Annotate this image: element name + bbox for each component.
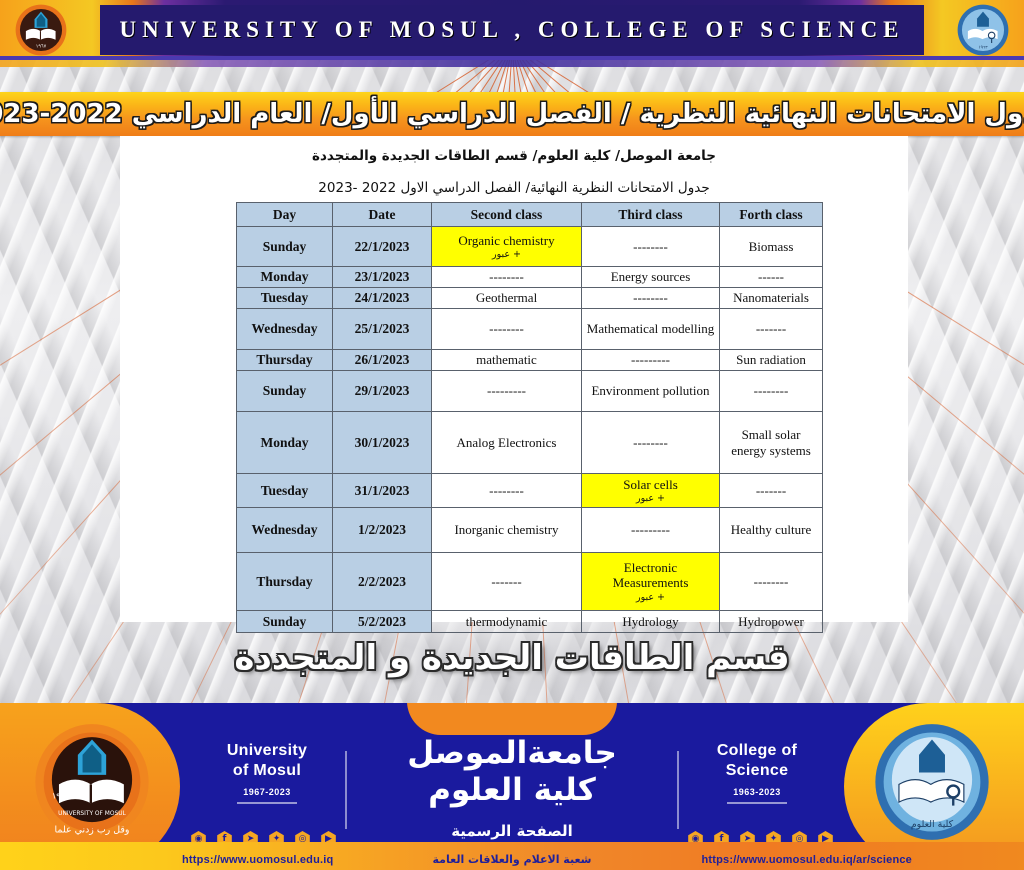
cell-second-class: --------: [432, 474, 582, 508]
footer-college-line1: College of: [672, 741, 842, 761]
cell-second-class: --------: [432, 309, 582, 350]
cell-day: Sunday: [237, 227, 333, 267]
footer-university-line1: University: [182, 741, 352, 761]
cell-date: 2/2/2023: [333, 553, 432, 611]
footer-college-text-block: College of Science 1963-2023: [672, 741, 842, 804]
department-title: قسم الطاقات الجديدة و المتجددة: [234, 638, 789, 678]
cell-date: 26/1/2023: [333, 350, 432, 371]
exam-schedule-title: جدول الامتحانات النهائية النظرية / الفصل…: [0, 99, 1024, 129]
cell-second-class: Analog Electronics: [432, 412, 582, 474]
cell-third-class: Mathematical modelling: [582, 309, 720, 350]
cell-third-class: --------: [582, 412, 720, 474]
sheet-subtitle-schedule: جدول الامتحانات النظرية النهائية/ الفصل …: [120, 180, 908, 196]
table-row: Tuesday24/1/2023Geothermal--------Nanoma…: [237, 288, 823, 309]
footer-notch-shape: [407, 703, 617, 735]
svg-text:١٩٦٧: ١٩٦٧: [52, 791, 70, 801]
cell-forth-class: -------: [720, 309, 823, 350]
cell-second-class: Inorganic chemistry: [432, 508, 582, 553]
footer-university-line2: of Mosul: [182, 761, 352, 781]
cell-day: Sunday: [237, 371, 333, 412]
cell-third-class: ---------: [582, 508, 720, 553]
footer-right-rule: [727, 802, 787, 804]
cell-date: 30/1/2023: [333, 412, 432, 474]
table-row: Wednesday25/1/2023--------Mathematical m…: [237, 309, 823, 350]
university-header-title: UNIVERSITY OF MOSUL , COLLEGE OF SCIENCE: [119, 17, 904, 43]
footer-center-text-block: جامعةالموصل كلية العلوم الصفحة الرسمية: [347, 735, 677, 840]
svg-text:UNIVERSITY OF MOSUL: UNIVERSITY OF MOSUL: [58, 811, 126, 817]
cell-second-class: --------: [432, 267, 582, 288]
column-header-second-class: Second class: [432, 203, 582, 227]
cell-day: Tuesday: [237, 474, 333, 508]
footer-university-years: 1967-2023: [182, 787, 352, 797]
footer-url-strip: https://www.uomosul.edu.iq شعبة الاعلام …: [0, 842, 1024, 870]
svg-text:١٩٦٧: ١٩٦٧: [36, 43, 47, 49]
cell-forth-class: Nanomaterials: [720, 288, 823, 309]
cell-forth-class: -------: [720, 474, 823, 508]
cell-third-class: Energy sources: [582, 267, 720, 288]
department-title-block: قسم الطاقات الجديدة و المتجددة: [0, 630, 1024, 686]
footer-divider-right: [677, 751, 679, 829]
cell-day: Thursday: [237, 553, 333, 611]
cell-third-class: ---------: [582, 350, 720, 371]
top-header-inner: UNIVERSITY OF MOSUL , COLLEGE OF SCIENCE: [100, 5, 924, 55]
cell-day: Wednesday: [237, 309, 333, 350]
footer-university-logo-icon: ١٩٦٧ UNIVERSITY OF MOSUL وقل رب زدني علم…: [33, 721, 151, 843]
cell-date: 31/1/2023: [333, 474, 432, 508]
poster-page: UNIVERSITY OF MOSUL , COLLEGE OF SCIENCE…: [0, 0, 1024, 870]
exam-note-arabic: + عبور: [585, 493, 716, 504]
university-of-mosul-logo-icon: ١٩٦٧: [12, 3, 70, 57]
table-row: Wednesday1/2/2023Inorganic chemistry----…: [237, 508, 823, 553]
svg-text:كلية العلوم: كلية العلوم: [911, 819, 954, 830]
exam-note-arabic: + عبور: [585, 592, 716, 603]
cell-forth-class: Biomass: [720, 227, 823, 267]
cell-third-class: Electronic Measurements+ عبور: [582, 553, 720, 611]
footer-university-text-block: University of Mosul 1967-2023: [182, 741, 352, 804]
column-header-forth-class: Forth class: [720, 203, 823, 227]
cell-third-class: Environment pollution: [582, 371, 720, 412]
cell-second-class: -------: [432, 553, 582, 611]
table-row: Thursday2/2/2023-------Electronic Measur…: [237, 553, 823, 611]
cell-day: Tuesday: [237, 288, 333, 309]
cell-second-class: ---------: [432, 371, 582, 412]
cell-second-class: mathematic: [432, 350, 582, 371]
sheet-subtitle-department: جامعة الموصل/ كلية العلوم/ قسم الطاقات ا…: [120, 148, 908, 164]
cell-day: Wednesday: [237, 508, 333, 553]
cell-third-class: Solar cells+ عبور: [582, 474, 720, 508]
table-row: Monday30/1/2023Analog Electronics-------…: [237, 412, 823, 474]
cell-forth-class: Sun radiation: [720, 350, 823, 371]
footer-media-office-label: شعبة الاعلام والعلاقات العامة: [433, 853, 592, 866]
cell-forth-class: Small solar energy systems: [720, 412, 823, 474]
exam-note-arabic: + عبور: [435, 249, 578, 260]
cell-third-class: --------: [582, 288, 720, 309]
top-header-bar: UNIVERSITY OF MOSUL , COLLEGE OF SCIENCE…: [0, 0, 1024, 60]
cell-forth-class: --------: [720, 553, 823, 611]
cell-day: Thursday: [237, 350, 333, 371]
footer-url-university[interactable]: https://www.uomosul.edu.iq: [182, 854, 333, 866]
cell-forth-class: --------: [720, 371, 823, 412]
table-row: Monday23/1/2023--------Energy sources---…: [237, 267, 823, 288]
cell-date: 24/1/2023: [333, 288, 432, 309]
table-row: Tuesday31/1/2023--------Solar cells+ عبو…: [237, 474, 823, 508]
footer-arabic-college: كلية العلوم: [347, 772, 677, 809]
table-header-row: Day Date Second class Third class Forth …: [237, 203, 823, 227]
cell-date: 29/1/2023: [333, 371, 432, 412]
college-of-science-logo-icon: ١٩٦٣: [954, 3, 1012, 57]
cell-third-class: --------: [582, 227, 720, 267]
footer-college-logo-icon: كلية العلوم: [873, 721, 991, 843]
footer-banner: ١٩٦٧ UNIVERSITY OF MOSUL وقل رب زدني علم…: [0, 703, 1024, 870]
exam-schedule-title-banner: جدول الامتحانات النهائية النظرية / الفصل…: [0, 92, 1024, 136]
cell-second-class: Organic chemistry+ عبور: [432, 227, 582, 267]
footer-arabic-university: جامعةالموصل: [347, 735, 677, 772]
document-sheet: جامعة الموصل/ كلية العلوم/ قسم الطاقات ا…: [120, 136, 908, 622]
exam-schedule-table: Day Date Second class Third class Forth …: [236, 202, 823, 633]
footer-url-science[interactable]: https://www.uomosul.edu.iq/ar/science: [701, 854, 912, 866]
cell-date: 22/1/2023: [333, 227, 432, 267]
footer-arabic-official-page: الصفحة الرسمية: [347, 822, 677, 840]
column-header-day: Day: [237, 203, 333, 227]
cell-second-class: Geothermal: [432, 288, 582, 309]
cell-date: 1/2/2023: [333, 508, 432, 553]
table-row: Sunday22/1/2023Organic chemistry+ عبور--…: [237, 227, 823, 267]
column-header-date: Date: [333, 203, 432, 227]
table-row: Thursday26/1/2023mathematic---------Sun …: [237, 350, 823, 371]
table-body: Sunday22/1/2023Organic chemistry+ عبور--…: [237, 227, 823, 633]
footer-college-years: 1963-2023: [672, 787, 842, 797]
column-header-third-class: Third class: [582, 203, 720, 227]
header-underline: [0, 60, 1024, 67]
footer-left-rule: [237, 802, 297, 804]
svg-text:وقل رب زدني علما: وقل رب زدني علما: [55, 825, 130, 836]
cell-forth-class: Healthy culture: [720, 508, 823, 553]
footer-college-line2: Science: [672, 761, 842, 781]
cell-date: 23/1/2023: [333, 267, 432, 288]
cell-day: Monday: [237, 412, 333, 474]
cell-day: Monday: [237, 267, 333, 288]
cell-forth-class: ------: [720, 267, 823, 288]
table-row: Sunday29/1/2023---------Environment poll…: [237, 371, 823, 412]
svg-text:١٩٦٣: ١٩٦٣: [978, 45, 988, 50]
cell-date: 25/1/2023: [333, 309, 432, 350]
